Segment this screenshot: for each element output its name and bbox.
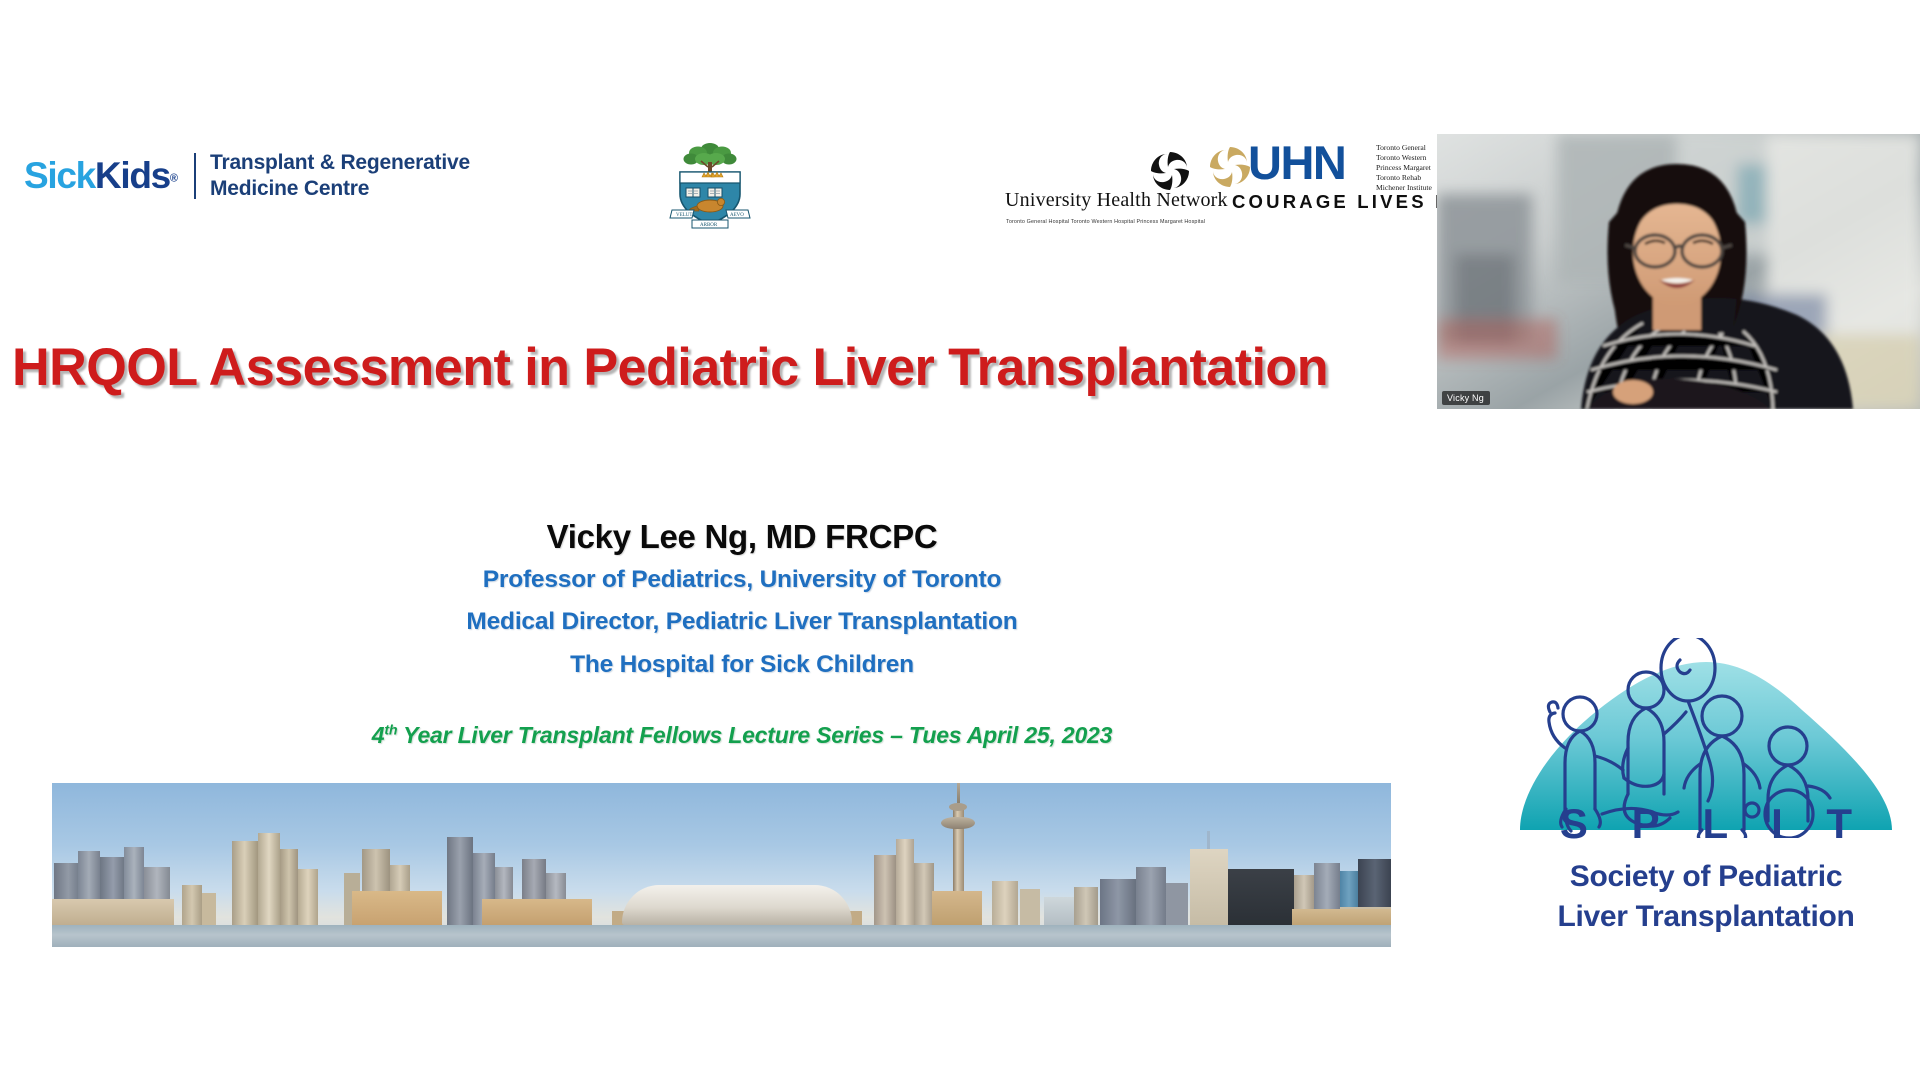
slide-title-text: HRQOL Assessment in Pediatric Liver Tran… (12, 337, 1328, 398)
building (1044, 897, 1074, 925)
uhn-site-3: Toronto Rehab (1376, 173, 1432, 183)
split-acronym: S P L I T (1506, 800, 1906, 848)
speaker-affiliation-2: The Hospital for Sick Children (0, 644, 1484, 687)
building (896, 839, 914, 925)
sickkids-subtitle-line2: Medicine Centre (210, 176, 470, 202)
building (52, 899, 174, 925)
sickkids-subtitle-line1: Transplant & Regenerative (210, 150, 470, 176)
university-of-toronto-crest-logo: VELUT AEVO ARBOR (664, 136, 756, 232)
building (258, 833, 280, 925)
toronto-skyline-image (52, 783, 1391, 947)
sickkids-word-kids: Kids (95, 155, 170, 196)
svg-text:ARBOR: ARBOR (700, 223, 718, 228)
building (1166, 883, 1188, 925)
uhn-swirl-icon (1149, 150, 1191, 192)
lecture-series-line: 4th Year Liver Transplant Fellows Lectur… (0, 722, 1484, 749)
building (232, 841, 258, 925)
logo-divider (194, 153, 196, 199)
building (1136, 867, 1166, 925)
building (1292, 909, 1391, 925)
uhn-courage-lives-here-logo: UHN Toronto General Toronto Western Prin… (1208, 141, 1402, 219)
uhn-site-2: Princess Margaret (1376, 163, 1432, 173)
building (914, 863, 934, 925)
lecture-ordinal-number: 4 (372, 722, 385, 748)
split-name-line2: Liver Transplantation (1506, 900, 1906, 934)
sickkids-logo: SickKids® Transplant & Regenerative Medi… (24, 150, 470, 201)
building (280, 849, 298, 925)
lecture-ordinal-suffix: th (384, 722, 397, 738)
speaker-name: Vicky Lee Ng, MD FRCPC (0, 515, 1484, 559)
building (932, 891, 982, 925)
building (1228, 869, 1294, 925)
sickkids-subtitle: Transplant & Regenerative Medicine Centr… (210, 150, 470, 201)
cn-tower-upper-pod (949, 803, 967, 811)
speaker-affiliation-0: Professor of Pediatrics, University of T… (0, 559, 1484, 602)
page-title: HRQOL Assessment in Pediatric Liver Tran… (0, 337, 1920, 398)
sickkids-word-sick: Sick (24, 155, 95, 196)
lecture-series-body: Year Liver Transplant Fellows Lecture Se… (397, 722, 1112, 748)
rogers-centre-dome (622, 885, 852, 925)
cn-tower-pod (941, 817, 975, 829)
split-society-logo: S P L I T Society of Pediatric Liver Tra… (1506, 638, 1906, 956)
building (447, 837, 473, 925)
speaker-affiliation-1: Medical Director, Pediatric Liver Transp… (0, 601, 1484, 644)
presentation-slide: SickKids® Transplant & Regenerative Medi… (0, 0, 1920, 1080)
building (202, 893, 216, 925)
svg-text:AEVO: AEVO (730, 213, 744, 218)
building (992, 881, 1018, 925)
building (352, 891, 442, 925)
speaker-info-block: Vicky Lee Ng, MD FRCPC Professor of Pedi… (0, 515, 1484, 687)
svg-text:VELUT: VELUT (676, 213, 692, 218)
lecture-series-text: 4th Year Liver Transplant Fellows Lectur… (372, 722, 1113, 748)
sickkids-wordmark: SickKids® (24, 157, 178, 194)
university-health-network-logo: University Health Network Toronto Genera… (1005, 150, 1195, 228)
uhn-site-0: Toronto General (1376, 143, 1432, 153)
uhn-letters: UHN (1248, 139, 1345, 186)
split-name-line1: Society of Pediatric (1506, 860, 1906, 894)
lake-ontario-water (52, 925, 1391, 947)
building (182, 885, 202, 925)
building (1020, 889, 1040, 925)
building (1100, 879, 1136, 925)
building (482, 899, 592, 925)
building-antenna (1207, 831, 1210, 849)
uhn-wordmark-sites: Toronto General Hospital Toronto Western… (1006, 219, 1205, 225)
building (298, 869, 318, 925)
tree-icon (684, 143, 737, 172)
building (1190, 849, 1228, 925)
building (1074, 887, 1098, 925)
uhn-courage-sites: Toronto General Toronto Western Princess… (1376, 143, 1432, 193)
uhn-site-1: Toronto Western (1376, 153, 1432, 163)
registered-trademark-icon: ® (170, 173, 178, 185)
uhn-wordmark-name: University Health Network (1005, 189, 1228, 212)
cn-tower-antenna (957, 783, 960, 803)
uhn-gold-swirl-icon (1208, 145, 1252, 189)
building (874, 855, 896, 925)
